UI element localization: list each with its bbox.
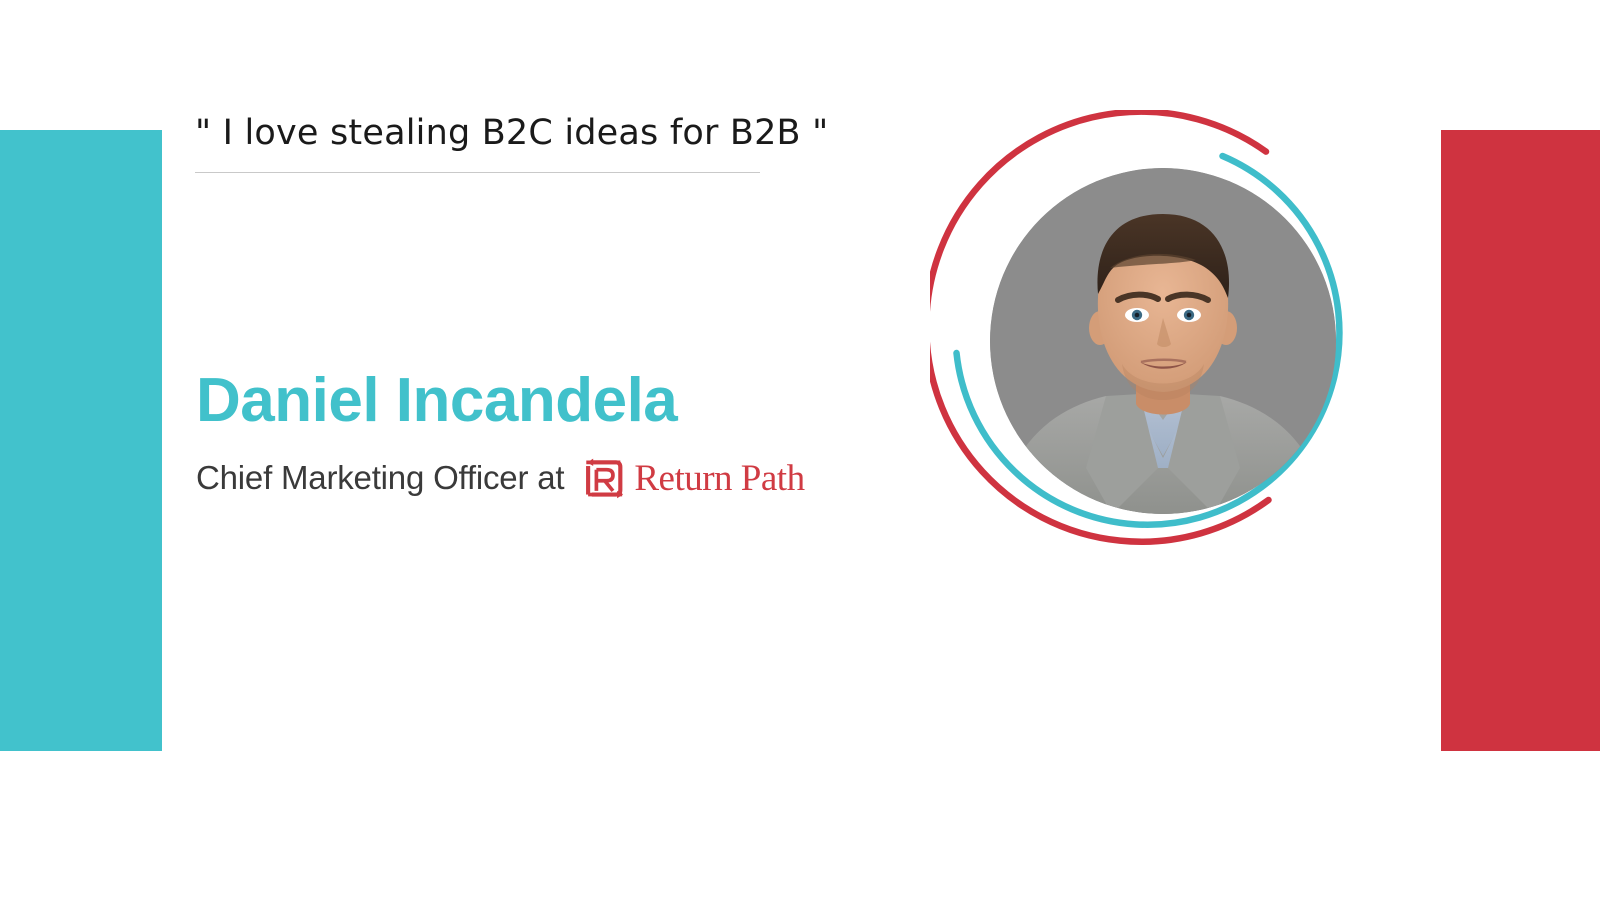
decorative-bar-left (0, 130, 162, 751)
speaker-avatar (990, 168, 1336, 514)
quote-block: " I love stealing B2C ideas for B2B " (195, 112, 895, 173)
speaker-avatar-image (990, 168, 1336, 514)
return-path-wordmark: Return Path (634, 460, 804, 497)
speaker-block: Daniel Incandela Chief Marketing Officer… (196, 368, 956, 501)
speaker-role-text: Chief Marketing Officer at (196, 459, 564, 497)
return-path-logo-mark (578, 455, 624, 501)
quote-divider (195, 172, 760, 173)
speaker-role-line: Chief Marketing Officer at (196, 455, 956, 501)
portrait-container (930, 110, 1400, 580)
quote-text: " I love stealing B2C ideas for B2B " (195, 112, 895, 156)
presentation-slide: " I love stealing B2C ideas for B2B " Da… (0, 0, 1600, 900)
decorative-bar-right (1441, 130, 1600, 751)
speaker-name: Daniel Incandela (196, 368, 956, 433)
return-path-logo: Return Path (578, 455, 804, 501)
